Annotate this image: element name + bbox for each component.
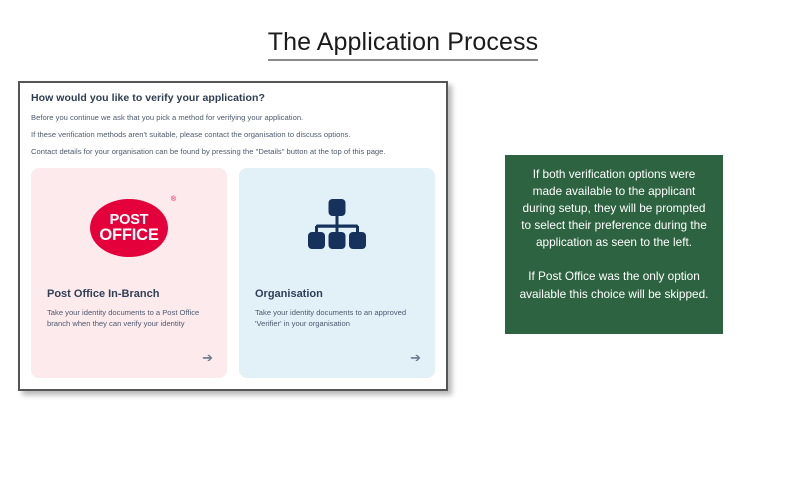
post-office-logo-oval: POST OFFICE [90, 199, 168, 257]
verification-question-heading: How would you like to verify your applic… [31, 92, 435, 104]
verification-option-post-office[interactable]: POST OFFICE ® Post Office In-Branch Take… [31, 168, 227, 378]
verification-info-line-3: Contact details for your organisation ca… [31, 147, 435, 156]
application-screenshot-panel: How would you like to verify your applic… [18, 81, 448, 391]
verification-options-list: POST OFFICE ® Post Office In-Branch Take… [31, 168, 435, 378]
organisation-card-title: Organisation [255, 288, 419, 300]
verification-info-line-2: If these verification methods aren't sui… [31, 130, 435, 139]
organisation-card-description: Take your identity documents to an appro… [255, 307, 419, 329]
callout-paragraph-2: If Post Office was the only option avail… [517, 268, 711, 302]
annotation-callout: If both verification options were made a… [505, 155, 723, 334]
verification-info-line-1: Before you continue we ask that you pick… [31, 113, 435, 122]
post-office-card-title: Post Office In-Branch [47, 288, 211, 300]
post-office-icon-area: POST OFFICE ® [47, 182, 211, 274]
post-office-logo-line-2: OFFICE [99, 227, 158, 244]
registered-trademark-icon: ® [171, 196, 176, 203]
post-office-logo-icon: POST OFFICE ® [90, 199, 168, 257]
arrow-right-icon[interactable]: ➔ [410, 351, 421, 364]
organisation-icon-area [255, 182, 419, 274]
page-title-text: The Application Process [268, 28, 539, 61]
post-office-logo-line-1: POST [110, 213, 149, 228]
callout-spacer [517, 251, 711, 268]
post-office-card-description: Take your identity documents to a Post O… [47, 307, 211, 329]
arrow-right-icon[interactable]: ➔ [202, 351, 213, 364]
callout-paragraph-1: If both verification options were made a… [517, 166, 711, 251]
verification-option-organisation[interactable]: Organisation Take your identity document… [239, 168, 435, 378]
page-title: The Application Process [0, 28, 806, 57]
organisation-hierarchy-icon [304, 199, 370, 257]
